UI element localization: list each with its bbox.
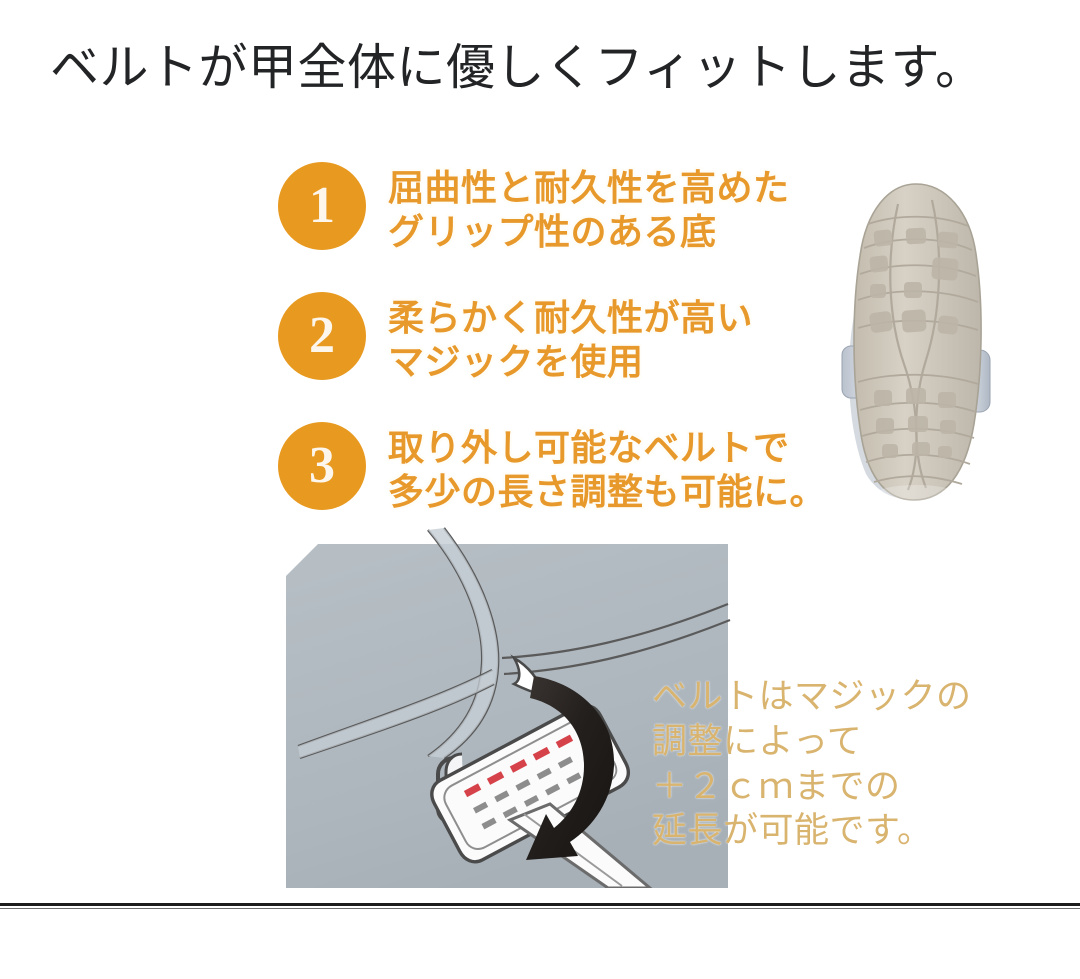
feature-item-1-label: 屈曲性と耐久性を高めた グリップ性のある底 xyxy=(388,162,790,254)
caption-line: 延長が可能です。 xyxy=(652,809,972,854)
outsole-icon xyxy=(828,178,1004,508)
numbered-circle-icon: 3 xyxy=(278,422,366,510)
feature-item-2: 2 柔らかく耐久性が高い マジックを使用 xyxy=(278,292,858,384)
bottom-divider-hairline xyxy=(0,908,1080,909)
feature-line: マジックを使用 xyxy=(388,340,753,384)
feature-line: 取り外し可能なベルトで xyxy=(388,426,826,470)
numbered-circle-icon: 2 xyxy=(278,292,366,380)
product-feature-panel: ベルトが甲全体に優しくフィットします。 1 屈曲性と耐久性を高めた グリップ性の… xyxy=(0,0,1080,979)
belt-extension-caption: ベルトはマジックの 調整によって ＋２ｃｍまでの 延長が可能です。 xyxy=(652,675,972,854)
caption-line: ＋２ｃｍまでの xyxy=(652,765,972,810)
numbered-circle-icon: 1 xyxy=(278,162,366,250)
feature-line: 柔らかく耐久性が高い xyxy=(388,296,753,340)
bottom-divider xyxy=(0,903,1080,906)
page-title: ベルトが甲全体に優しくフィットします。 xyxy=(50,40,1030,96)
feature-item-3-label: 取り外し可能なベルトで 多少の長さ調整も可能に。 xyxy=(388,422,826,514)
shoe-outsole-photo xyxy=(828,178,1004,508)
feature-list: 1 屈曲性と耐久性を高めた グリップ性のある底 2 柔らかく耐久性が高い マジッ… xyxy=(278,162,858,552)
feature-line: グリップ性のある底 xyxy=(388,210,790,254)
feature-item-1: 1 屈曲性と耐久性を高めた グリップ性のある底 xyxy=(278,162,858,254)
feature-item-2-label: 柔らかく耐久性が高い マジックを使用 xyxy=(388,292,753,384)
caption-line: 調整によって xyxy=(652,720,972,765)
feature-line: 屈曲性と耐久性を高めた xyxy=(388,166,790,210)
caption-line: ベルトはマジックの xyxy=(652,675,972,720)
feature-item-3: 3 取り外し可能なベルトで 多少の長さ調整も可能に。 xyxy=(278,422,858,514)
